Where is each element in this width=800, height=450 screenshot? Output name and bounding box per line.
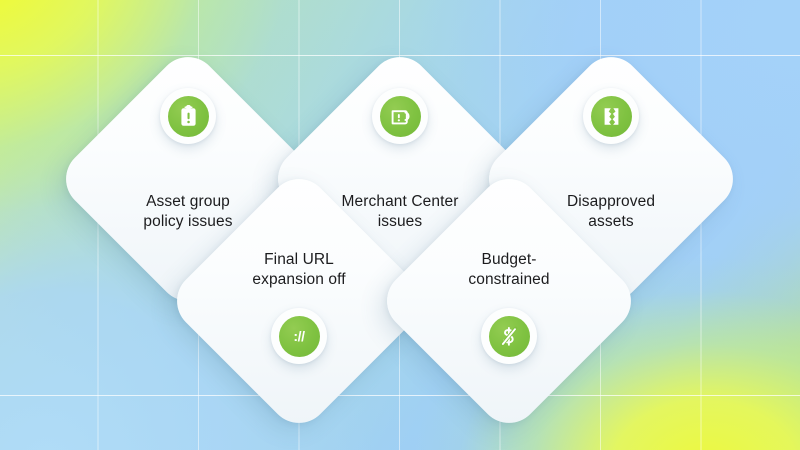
card-budget-constrained[interactable]: Budget- constrained [375,167,644,436]
broken-image-icon [583,88,639,144]
icon-disc [591,96,632,137]
storefront-alert-icon [372,88,428,144]
card-content: Budget- constrained [414,206,604,396]
icon-disc [168,96,209,137]
icon-disc [489,316,530,357]
card-label: Budget- constrained [425,250,593,290]
url-protocol-icon: :// [271,308,327,364]
clipboard-alert-glyph [179,105,198,127]
diagram-canvas: Asset group policy issues Merchant Cente… [0,0,800,450]
dollar-slash-icon [481,308,537,364]
card-label: Final URL expansion off [215,250,383,290]
card-content: Final URL expansion off [204,206,394,396]
icon-disc: :// [279,316,320,357]
url-protocol-glyph: :// [293,329,304,343]
broken-image-glyph [601,106,622,127]
clipboard-alert-icon [160,88,216,144]
icon-disc [380,96,421,137]
storefront-alert-glyph [390,106,411,127]
dollar-slash-glyph [499,326,519,347]
